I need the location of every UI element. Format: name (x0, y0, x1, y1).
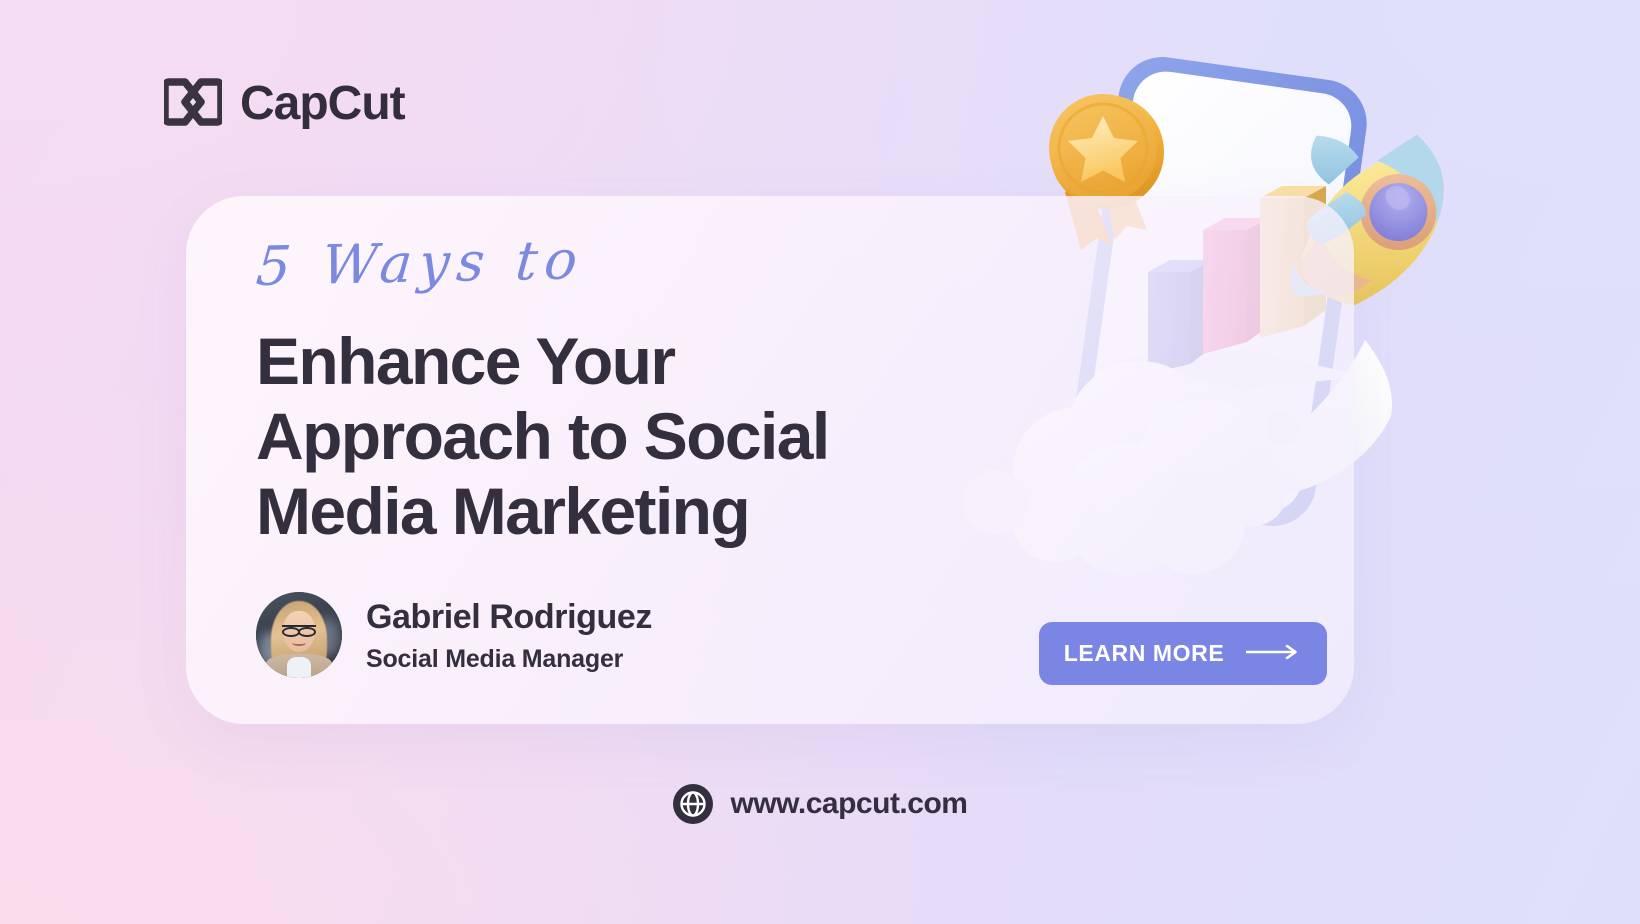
arrow-right-icon (1246, 645, 1302, 662)
website-url[interactable]: www.capcut.com (731, 787, 968, 821)
brand-name: CapCut (240, 80, 405, 128)
author-block: Gabriel Rodriguez Social Media Manager (256, 592, 652, 678)
learn-more-label: LEARN MORE (1064, 640, 1225, 667)
globe-icon (673, 784, 713, 824)
avatar (256, 592, 342, 678)
author-role: Social Media Manager (366, 645, 652, 674)
learn-more-button[interactable]: LEARN MORE (1039, 622, 1327, 685)
footer: www.capcut.com (0, 784, 1640, 824)
eyebrow-text: 5 Ways to (253, 218, 1318, 302)
author-name: Gabriel Rodriguez (366, 596, 652, 639)
capcut-logo[interactable]: CapCut (164, 78, 405, 130)
capcut-hourglass-icon (164, 78, 222, 130)
page-title: Enhance Your Approach to Social Media Ma… (256, 324, 916, 550)
